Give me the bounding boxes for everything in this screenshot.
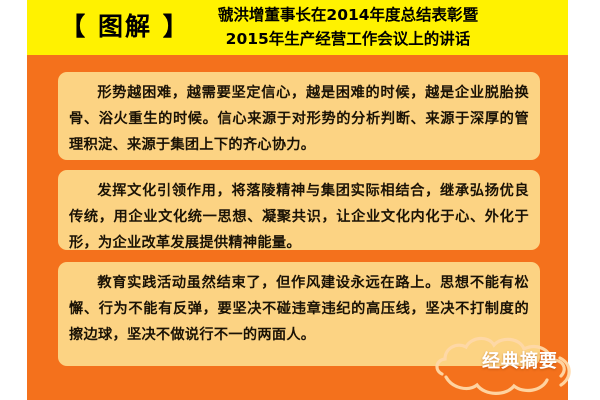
- panel-1-text: 形势越困难，越需要坚定信心，越是困难的时候，越是企业脱胎换骨、浴火重生的时候。信…: [69, 80, 529, 158]
- content-panel-2: 发挥文化引领作用，将落陵精神与集团实际相结合，继承弘扬优良传统，用企业文化统一思…: [58, 170, 540, 250]
- poster-root: 【 图解 】 虢洪增董事长在2014年度总结表彰暨 2015年生产经营工作会议上…: [0, 0, 600, 400]
- panel-2-text: 发挥文化引领作用，将落陵精神与集团实际相结合，继承弘扬优良传统，用企业文化统一思…: [69, 178, 529, 256]
- page-title-line-1: 虢洪增董事长在2014年度总结表彰暨: [203, 3, 493, 27]
- content-panel-1: 形势越困难，越需要坚定信心，越是困难的时候，越是企业脱胎换骨、浴火重生的时候。信…: [58, 72, 540, 160]
- panel-3-text: 教育实践活动虽然结束了，但作风建设永远在路上。思想不能有松懈、行为不能有反弹，要…: [69, 270, 529, 348]
- header-band: 【 图解 】 虢洪增董事长在2014年度总结表彰暨 2015年生产经营工作会议上…: [27, 0, 568, 55]
- content-panel-3: 教育实践活动虽然结束了，但作风建设永远在路上。思想不能有松懈、行为不能有反弹，要…: [58, 262, 540, 366]
- bracket-label: 【 图解 】: [60, 9, 190, 45]
- page-title: 虢洪增董事长在2014年度总结表彰暨 2015年生产经营工作会议上的讲话: [203, 3, 493, 51]
- page-title-line-2: 2015年生产经营工作会议上的讲话: [203, 27, 493, 51]
